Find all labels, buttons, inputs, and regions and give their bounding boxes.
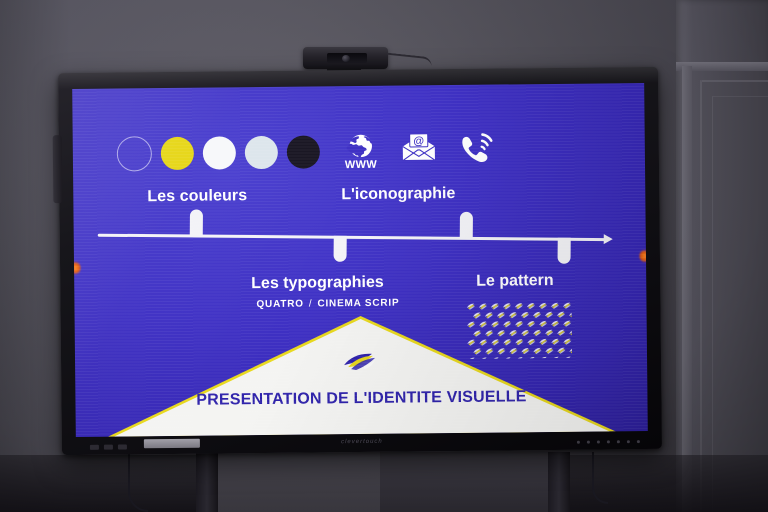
bezel-key[interactable]: [617, 440, 620, 443]
timeline-line: [98, 234, 608, 241]
screen-glare-left: [72, 261, 81, 275]
swatch-pale-blue: [245, 136, 278, 169]
display-brand-text: clevertouch: [341, 438, 383, 444]
webcam-lens: [342, 55, 350, 62]
bezel-key[interactable]: [627, 440, 630, 443]
swatch-white: [203, 136, 236, 169]
bezel-ports: [90, 444, 127, 449]
label-liconographie: L'iconographie: [341, 185, 455, 204]
www-caption: WWW: [341, 160, 381, 171]
page-title: PRESENTATION DE L'IDENTITE VISUELLE: [196, 388, 526, 409]
swatch-yellow: [161, 137, 194, 170]
tick-couleurs: [190, 209, 203, 235]
label-les-typographies: Les typographies: [251, 274, 384, 293]
side-bracket: [53, 135, 63, 203]
port: [104, 445, 113, 450]
swatch-blue-outline: [117, 136, 152, 171]
tick-iconographie: [460, 212, 473, 238]
display-screen[interactable]: Les couleurs WWW: [72, 83, 648, 437]
tick-typographies: [334, 236, 347, 262]
bezel-key[interactable]: [597, 440, 600, 443]
tick-pattern: [558, 238, 571, 264]
webcam-icon: [303, 47, 388, 69]
bezel-key[interactable]: [637, 440, 640, 443]
bezel-key[interactable]: [577, 441, 580, 444]
power-cable-right: [592, 452, 608, 504]
phone-icon: [457, 133, 497, 169]
triangle-white: [109, 316, 614, 437]
power-cable-left: [128, 452, 148, 512]
label-le-pattern: Le pattern: [476, 272, 554, 291]
display-stand-plate-highlight: [205, 452, 380, 512]
interactive-display[interactable]: Les couleurs WWW: [58, 67, 662, 455]
port: [118, 444, 127, 449]
bezel-sticker: [144, 439, 200, 449]
timeline-arrow-icon: [604, 234, 613, 244]
port: [90, 445, 99, 450]
title-banner: PRESENTATION DE L'IDENTITE VISUELLE: [74, 299, 647, 437]
timeline: [98, 232, 626, 243]
eagle-logo: [342, 352, 380, 372]
globe-www-icon: WWW: [341, 134, 381, 170]
presentation-slide: Les couleurs WWW: [72, 83, 648, 437]
stand-post-right: [548, 452, 570, 512]
bezel-key[interactable]: [587, 441, 590, 444]
label-les-couleurs: Les couleurs: [147, 187, 247, 206]
svg-text:@: @: [413, 135, 424, 147]
swatch-black: [287, 135, 320, 168]
envelope-at-icon: @: [399, 133, 439, 169]
color-swatch-row: [117, 134, 320, 171]
bezel-key[interactable]: [607, 440, 610, 443]
stand-post-left: [196, 452, 218, 512]
iconography-row: WWW @: [341, 133, 497, 171]
